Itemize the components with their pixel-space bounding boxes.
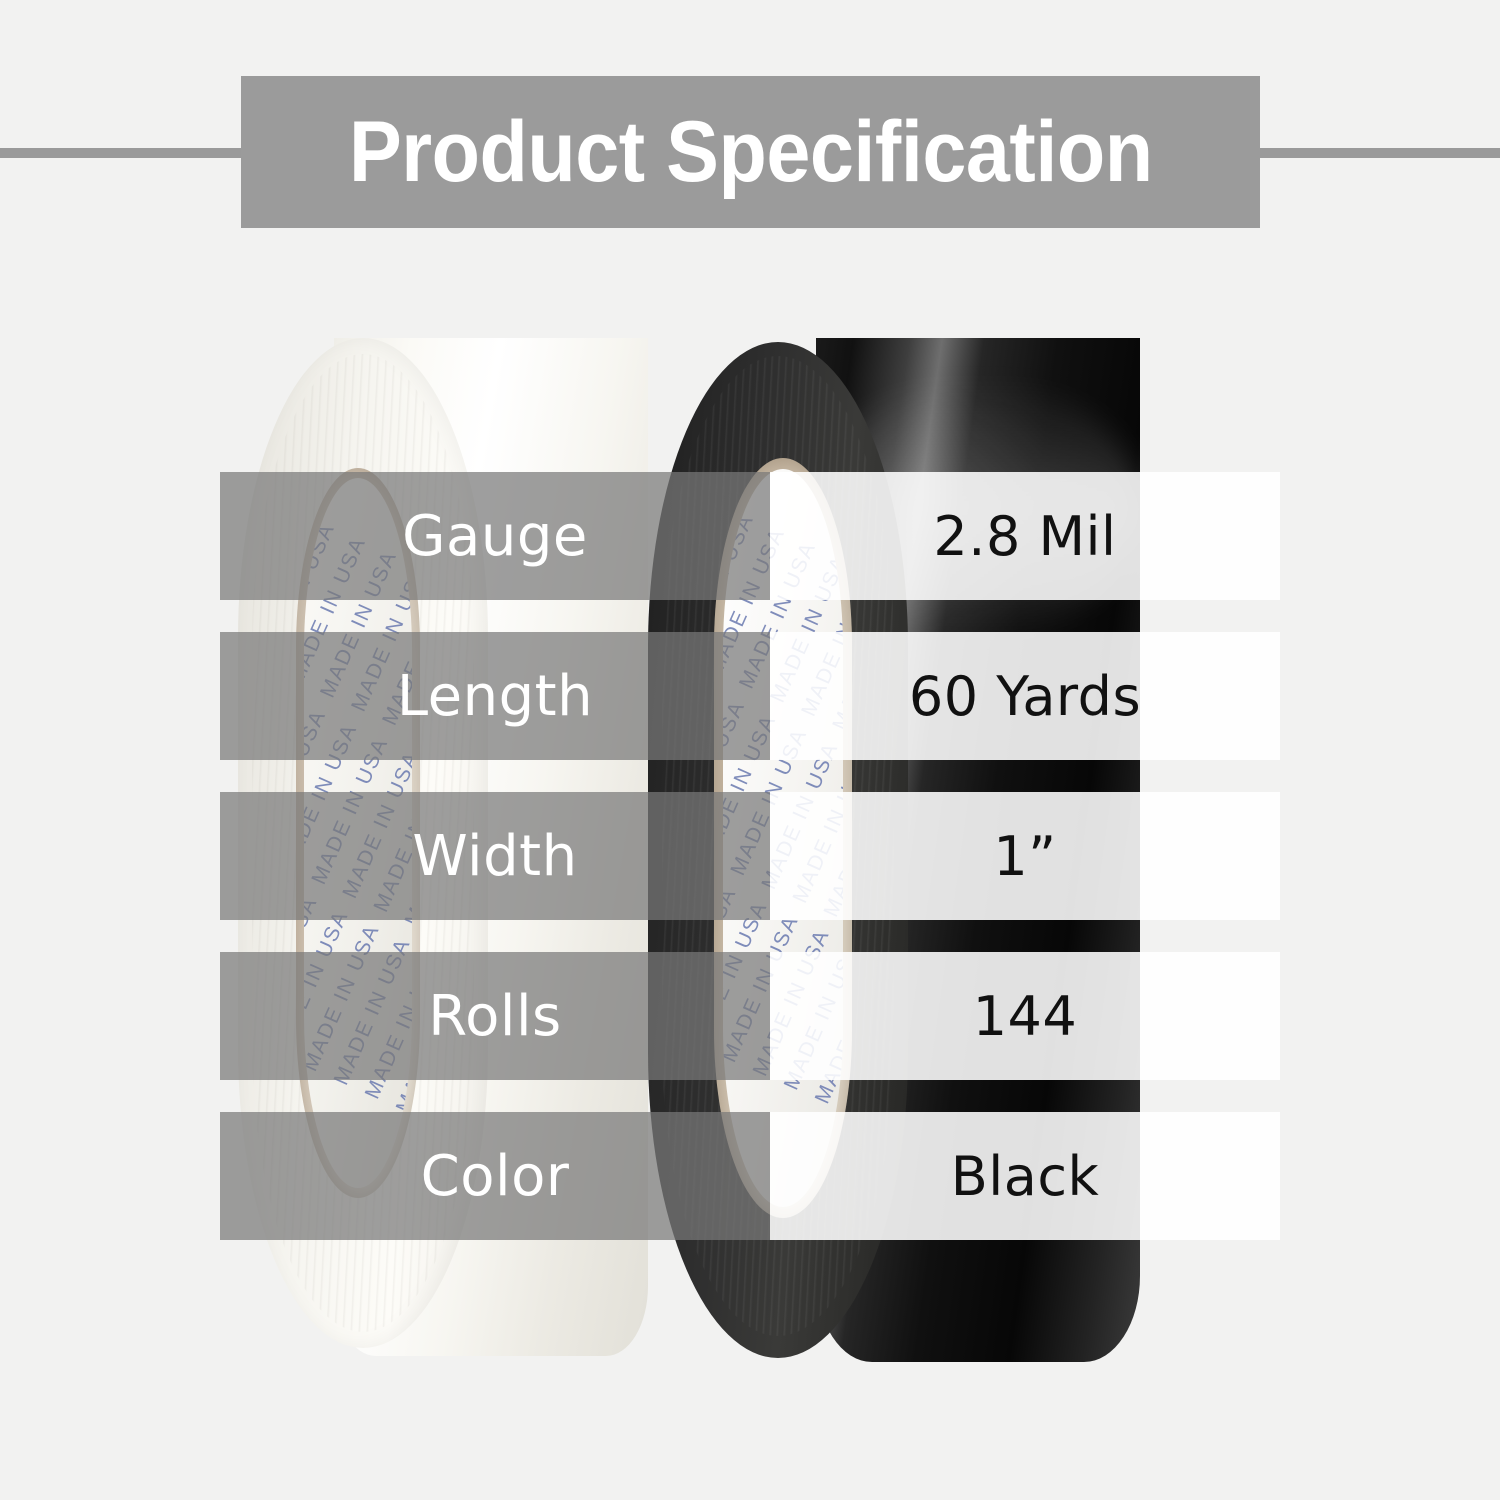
spec-label-text: Length	[397, 664, 593, 729]
spec-row: Length60 Yards	[0, 632, 1500, 760]
spec-label-cell: Rolls	[220, 952, 770, 1080]
spec-value-cell: 2.8 Mil	[770, 472, 1280, 600]
spec-label-cell: Length	[220, 632, 770, 760]
spec-label-cell: Gauge	[220, 472, 770, 600]
spec-label-cell: Color	[220, 1112, 770, 1240]
title-banner: Product Specification	[241, 76, 1260, 228]
spec-label-text: Color	[421, 1144, 570, 1209]
spec-value-cell: Black	[770, 1112, 1280, 1240]
spec-label-text: Width	[412, 824, 577, 889]
spec-label-text: Rolls	[428, 984, 561, 1049]
spec-value-cell: 60 Yards	[770, 632, 1280, 760]
spec-row: Gauge2.8 Mil	[0, 472, 1500, 600]
spec-row: Rolls144	[0, 952, 1500, 1080]
spec-value-text: 1”	[993, 825, 1056, 888]
page-title: Product Specification	[349, 103, 1153, 202]
product-specification-page: MADE IN USA MADE IN USA MADE IN USAMADE …	[0, 0, 1500, 1500]
spec-value-text: 2.8 Mil	[933, 505, 1116, 568]
spec-value-text: Black	[951, 1145, 1100, 1208]
spec-value-cell: 144	[770, 952, 1280, 1080]
spec-label-text: Gauge	[402, 504, 588, 569]
spec-label-cell: Width	[220, 792, 770, 920]
spec-row: ColorBlack	[0, 1112, 1500, 1240]
spec-value-text: 144	[973, 985, 1078, 1048]
spec-value-cell: 1”	[770, 792, 1280, 920]
spec-row: Width1”	[0, 792, 1500, 920]
spec-value-text: 60 Yards	[909, 665, 1141, 728]
